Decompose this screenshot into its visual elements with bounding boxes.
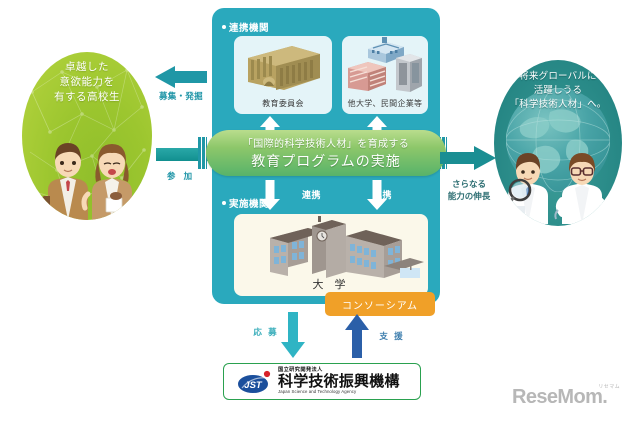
right-oval-future-talent: 将来グローバルに 活躍しうる 「科学技術人材」へ。 xyxy=(494,60,622,226)
card-other-universities-companies: 他大学、民間企業等 xyxy=(342,36,428,114)
caption-line-2: 意欲能力を xyxy=(22,75,152,90)
host-section-heading: 実施機関 xyxy=(222,196,269,210)
government-building-icon xyxy=(234,36,332,98)
apply-label: 応 募 xyxy=(246,326,286,338)
jst-mark-svg: JST xyxy=(236,370,274,394)
bullet-dot-icon xyxy=(222,201,226,205)
growth-label: さらなる 能力の伸長 xyxy=(428,178,510,202)
caption-line-3: 「科学技術人材」へ。 xyxy=(494,98,622,112)
company-buildings-icon xyxy=(342,36,428,98)
jst-text-block: 国立研究開発法人 科学技術振興機構 Japan Science and Tech… xyxy=(278,368,400,395)
arrow-right-icon xyxy=(440,146,496,170)
card-label: 教育委員会 xyxy=(234,98,332,109)
left-oval-caption: 卓越した 意欲能力を 有する高校生 xyxy=(22,60,152,105)
link-label-2: 連携 xyxy=(373,188,392,201)
watermark-text: ReseMom. xyxy=(512,386,607,408)
caption-line-1: 将来グローバルに xyxy=(494,70,622,84)
growth-label-line-1: さらなる xyxy=(428,178,510,190)
partner-section-heading: 連携機関 xyxy=(222,20,269,34)
recruit-label: 募集・発掘 xyxy=(150,90,212,102)
jst-organization-box: JST 国立研究開発法人 科学技術振興機構 Japan Science and … xyxy=(223,363,421,400)
jst-logo-icon: JST xyxy=(236,370,274,394)
arrow-up-icon xyxy=(345,314,369,358)
jst-line-3: Japan Science and Technology Agency xyxy=(278,390,400,394)
university-building-icon xyxy=(234,214,428,278)
consortium-badge: コンソーシアム xyxy=(325,292,435,316)
join-label: 参 加 xyxy=(150,170,212,182)
support-label: 支 援 xyxy=(372,330,412,342)
card-university: 大 学 xyxy=(234,214,428,296)
card-label: 他大学、民間企業等 xyxy=(342,98,428,109)
caption-line-2: 活躍しうる xyxy=(494,84,622,98)
watermark-subtext: リセマム xyxy=(598,383,620,390)
arrow-left-icon xyxy=(155,66,207,88)
growth-label-line-2: 能力の伸長 xyxy=(428,190,510,202)
right-oval-caption: 将来グローバルに 活躍しうる 「科学技術人材」へ。 xyxy=(494,70,622,112)
resemom-watermark: ReseMom. リセマム xyxy=(512,386,622,412)
caption-line-1: 卓越した xyxy=(22,60,152,75)
researchers-illustration-icon xyxy=(500,144,616,224)
diagram-canvas: 卓越した 意欲能力を 有する高校生 xyxy=(0,0,640,423)
program-pill: 「国際的科学技術人材」を育成する 教育プログラムの実施 xyxy=(206,130,446,176)
jst-line-2: 科学技術振興機構 xyxy=(278,374,400,389)
card-label: 大 学 xyxy=(234,276,428,292)
left-oval-students: 卓越した 意欲能力を 有する高校生 xyxy=(22,52,152,220)
caption-line-3: 有する高校生 xyxy=(22,90,152,105)
program-line-1: 「国際的科学技術人材」を育成する xyxy=(243,135,409,150)
program-line-2: 教育プログラムの実施 xyxy=(251,151,401,171)
link-label-1: 連携 xyxy=(302,188,321,201)
card-board-of-education: 教育委員会 xyxy=(234,36,332,114)
bullet-dot-icon xyxy=(222,25,226,29)
svg-text:JST: JST xyxy=(244,380,263,391)
students-illustration-icon xyxy=(30,132,144,220)
